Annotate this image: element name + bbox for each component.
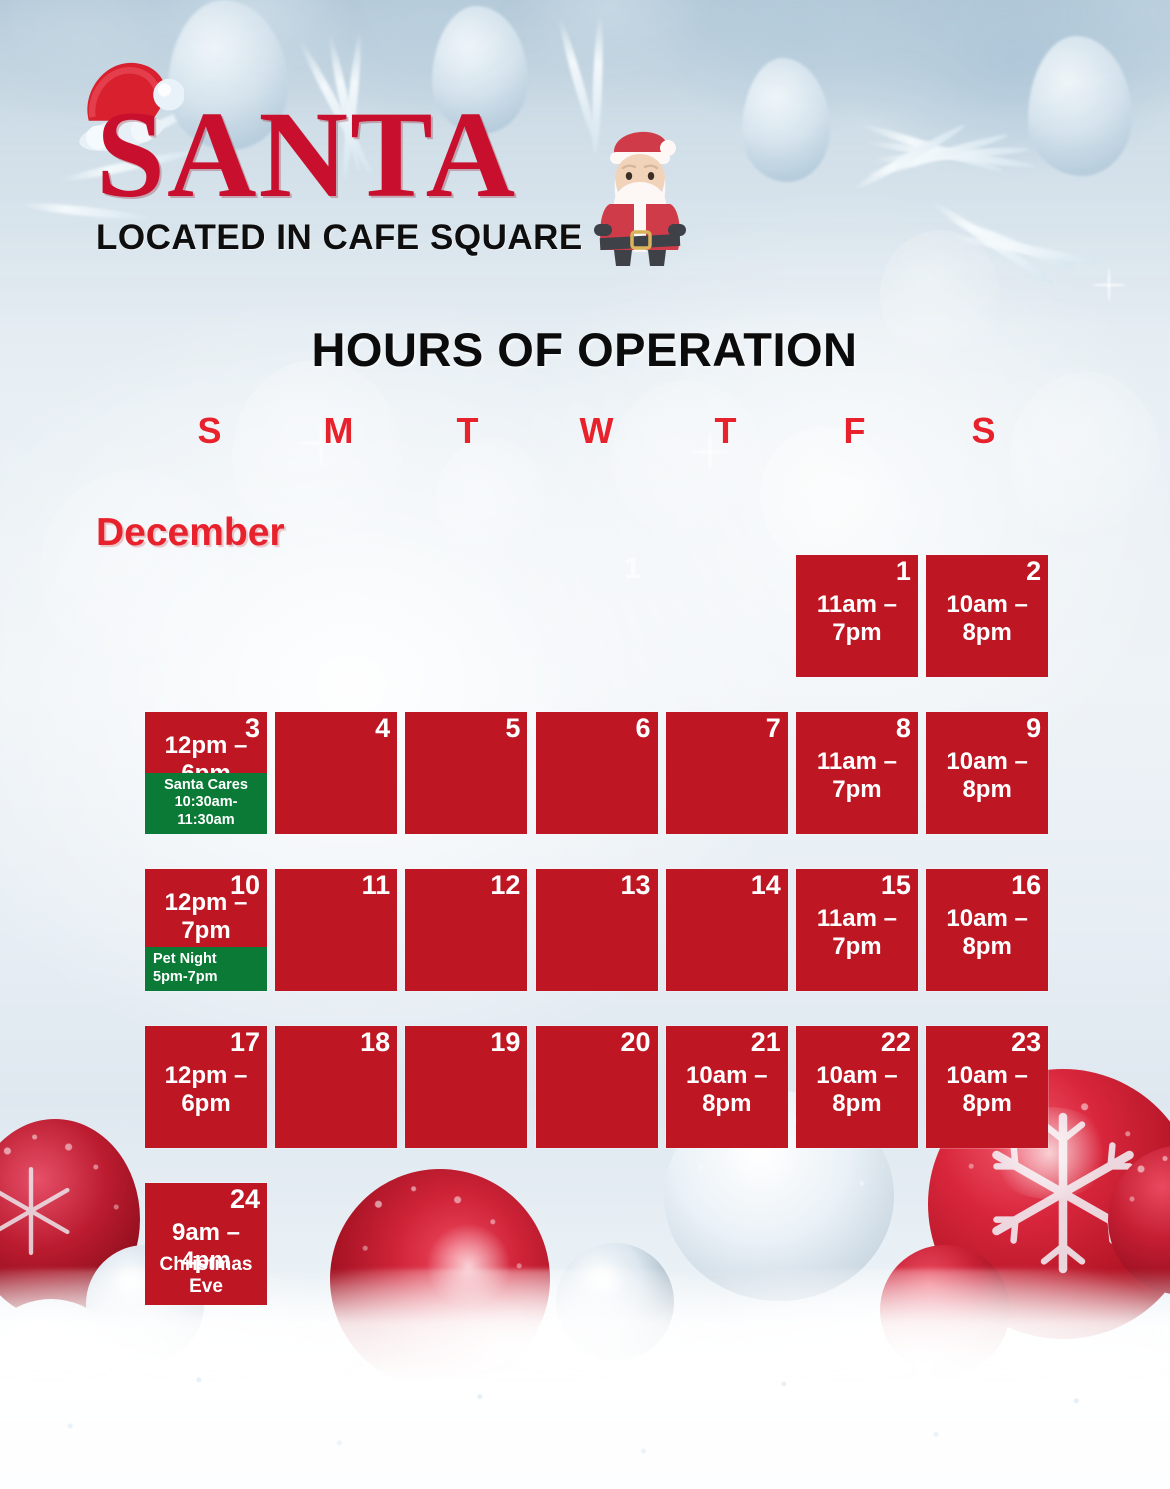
day-cell[interactable]: 10 12pm – 7pm Pet Night 5pm-7pm [145, 869, 267, 991]
calendar-week-5: 24 9am – 4pm Christmas Eve [145, 1183, 1048, 1305]
day-cell[interactable]: 13 [536, 869, 658, 991]
day-number: 11 [362, 870, 391, 901]
day-number: 2 [1026, 556, 1041, 587]
day-number: 6 [636, 713, 651, 744]
day-cell-blank [405, 555, 527, 677]
day-hours: 10am – 8pm [926, 748, 1048, 804]
day-cell[interactable]: 9 10am – 8pm [926, 712, 1048, 834]
day-number: 15 [881, 870, 911, 901]
day-cell[interactable]: 7 [666, 712, 788, 834]
day-hours: 12pm – 7pm [145, 889, 267, 945]
day-cell-blank [926, 1183, 1048, 1305]
page-title: HOURS OF OPERATION [0, 322, 1170, 377]
day-number: 20 [621, 1027, 651, 1058]
day-cell[interactable]: 20 [536, 1026, 658, 1148]
day-number: 22 [881, 1027, 911, 1058]
day-cell[interactable]: 19 [405, 1026, 527, 1148]
calendar-week-3: 10 12pm – 7pm Pet Night 5pm-7pm 11 12 13 [145, 869, 1048, 991]
day-cell[interactable]: 24 9am – 4pm Christmas Eve [145, 1183, 267, 1305]
day-number: 21 [751, 1027, 781, 1058]
day-number: 7 [766, 713, 781, 744]
day-number: 19 [490, 1027, 520, 1058]
day-number: 14 [751, 870, 781, 901]
day-hours: 11am – 7pm [796, 591, 918, 647]
day-note: Christmas Eve [145, 1254, 267, 1298]
day-number: 9 [1026, 713, 1041, 744]
month-label: December [96, 511, 285, 555]
day-cell-blank [275, 1183, 397, 1305]
santa-hours-poster: SANTA LOCATED IN CAFE SQUARE HOURS OF OP… [0, 0, 1170, 1489]
day-number: 23 [1011, 1027, 1041, 1058]
event-banner[interactable]: Santa Cares 10:30am-11:30am [145, 773, 267, 834]
day-number: 13 [621, 870, 651, 901]
dow-friday: F [790, 410, 919, 452]
dow-wednesday: W [532, 410, 661, 452]
day-cell[interactable]: 6 [536, 712, 658, 834]
day-cell-blank [666, 1183, 788, 1305]
day-cell[interactable]: 12 [405, 869, 527, 991]
day-cell-blank [666, 555, 788, 677]
day-cell[interactable]: 5 [405, 712, 527, 834]
calendar-grid: 1 11am – 7pm 2 10am – 8pm 3 12pm – 6pm S… [145, 555, 1048, 1340]
calendar-week-4: 17 12pm – 6pm 18 19 20 21 10am – 8pm 22 [145, 1026, 1048, 1148]
day-hours: 10am – 8pm [666, 1062, 788, 1118]
event-title: Pet Night [153, 951, 265, 968]
event-time: 10:30am-11:30am [147, 794, 265, 829]
day-number: 16 [1011, 870, 1041, 901]
event-title: Santa Cares [147, 777, 265, 794]
dow-saturday: S [919, 410, 1048, 452]
day-cell[interactable]: 2 10am – 8pm [926, 555, 1048, 677]
day-number: 8 [896, 713, 911, 744]
day-cell[interactable]: 21 10am – 8pm [666, 1026, 788, 1148]
calendar-week-2: 3 12pm – 6pm Santa Cares 10:30am-11:30am… [145, 712, 1048, 834]
day-cell-blank [145, 555, 267, 677]
day-of-week-header: S M T W T F S [145, 410, 1048, 452]
event-time: 5pm-7pm [153, 969, 265, 986]
santa-figure-icon [588, 108, 692, 268]
day-hours: 10am – 8pm [926, 905, 1048, 961]
day-number: 24 [230, 1184, 260, 1215]
day-cell-blank [536, 555, 658, 677]
day-cell-blank [275, 555, 397, 677]
calendar-week-1: 1 11am – 7pm 2 10am – 8pm [145, 555, 1048, 677]
day-cell-blank [405, 1183, 527, 1305]
day-cell-blank [536, 1183, 658, 1305]
day-hours: 10am – 8pm [926, 591, 1048, 647]
event-banner[interactable]: Pet Night 5pm-7pm [145, 947, 267, 991]
day-hours: 12pm – 6pm [145, 1062, 267, 1118]
day-number: 17 [230, 1027, 260, 1058]
day-cell-blank [796, 1183, 918, 1305]
day-cell[interactable]: 23 10am – 8pm [926, 1026, 1048, 1148]
day-cell[interactable]: 15 11am – 7pm [796, 869, 918, 991]
day-cell[interactable]: 4 [275, 712, 397, 834]
day-number: 4 [375, 713, 390, 744]
day-cell[interactable]: 17 12pm – 6pm [145, 1026, 267, 1148]
snowflake-icon [0, 1156, 86, 1266]
day-cell[interactable]: 3 12pm – 6pm Santa Cares 10:30am-11:30am [145, 712, 267, 834]
dow-thursday: T [661, 410, 790, 452]
dow-monday: M [274, 410, 403, 452]
day-number: 18 [360, 1027, 390, 1058]
day-cell[interactable]: 8 11am – 7pm [796, 712, 918, 834]
day-number: 1 [896, 556, 911, 587]
dow-tuesday: T [403, 410, 532, 452]
day-hours: 10am – 8pm [796, 1062, 918, 1118]
day-hours: 10am – 8pm [926, 1062, 1048, 1118]
day-cell[interactable]: 22 10am – 8pm [796, 1026, 918, 1148]
day-cell[interactable]: 1 11am – 7pm [796, 555, 918, 677]
day-number: 12 [490, 870, 520, 901]
day-cell[interactable]: 16 10am – 8pm [926, 869, 1048, 991]
day-cell[interactable]: 11 [275, 869, 397, 991]
day-hours: 11am – 7pm [796, 905, 918, 961]
dow-sunday: S [145, 410, 274, 452]
day-number: 5 [505, 713, 520, 744]
day-cell[interactable]: 18 [275, 1026, 397, 1148]
day-hours: 11am – 7pm [796, 748, 918, 804]
day-cell[interactable]: 14 [666, 869, 788, 991]
